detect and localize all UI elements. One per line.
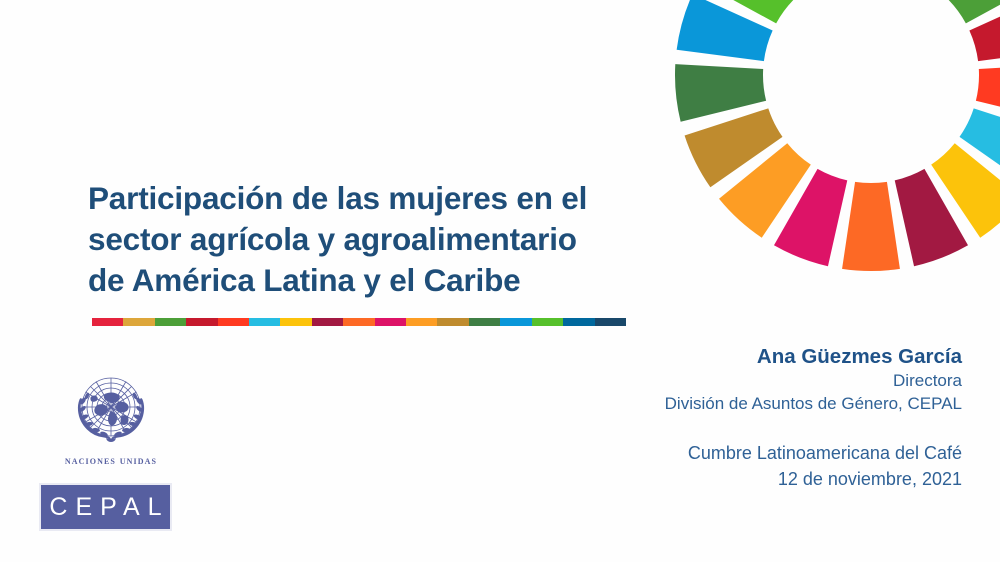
credits-block: Ana Güezmes García Directora División de… — [522, 344, 962, 492]
sdg-color-rule-segment-13 — [469, 318, 500, 326]
cepal-logo: CEPAL — [39, 483, 172, 531]
sdg-wheel-segment-8 — [895, 169, 968, 266]
presentation-slide: Participación de las mujeres en el secto… — [0, 0, 1000, 562]
page-title: Participación de las mujeres en el secto… — [88, 178, 648, 301]
sdg-color-rule-segment-7 — [280, 318, 311, 326]
sdg-wheel-segment-13 — [675, 64, 766, 122]
speaker-name: Ana Güezmes García — [522, 344, 962, 370]
sdg-wheel-segment-6 — [960, 108, 1000, 187]
speaker-division: División de Asuntos de Género, CEPAL — [522, 393, 962, 416]
sdg-wheel-logo — [671, 0, 1000, 275]
sdg-color-rule-segment-14 — [500, 318, 531, 326]
un-emblem-icon — [58, 374, 164, 450]
sdg-color-rule-segment-15 — [532, 318, 563, 326]
sdg-wheel-graphic — [671, 0, 1000, 275]
event-date: 12 de noviembre, 2021 — [522, 466, 962, 492]
sdg-color-rule-segment-1 — [92, 318, 123, 326]
sdg-color-rule-segment-2 — [123, 318, 154, 326]
sdg-color-rule-segment-6 — [249, 318, 280, 326]
sdg-wheel-segment-15 — [699, 0, 796, 23]
event-name: Cumbre Latinoamericana del Café — [522, 440, 962, 466]
sdg-wheel-segment-10 — [774, 169, 847, 266]
sdg-color-rule-segment-5 — [218, 318, 249, 326]
un-emblem-graphic — [58, 374, 164, 450]
sdg-wheel-segment-5 — [976, 64, 1000, 122]
sdg-color-rule-segment-17 — [595, 318, 626, 326]
sdg-wheel-segment-11 — [719, 143, 811, 238]
sdg-color-rule — [92, 318, 626, 326]
sdg-wheel-segment-7 — [931, 143, 1000, 238]
sdg-color-rule-segment-3 — [155, 318, 186, 326]
sdg-wheel-segment-4 — [969, 0, 1000, 61]
sdg-color-rule-segment-9 — [343, 318, 374, 326]
sdg-wheel-segment-9 — [842, 182, 900, 271]
sdg-color-rule-segment-10 — [375, 318, 406, 326]
sdg-wheel-segment-14 — [677, 0, 773, 61]
logo-block: Naciones Unidas CEPAL — [36, 374, 186, 531]
speaker-role: Directora — [522, 370, 962, 393]
event-block: Cumbre Latinoamericana del Café 12 de no… — [522, 440, 962, 492]
sdg-color-rule-segment-16 — [563, 318, 594, 326]
cepal-logo-label: CEPAL — [41, 495, 169, 520]
sdg-wheel-segment-12 — [685, 108, 783, 187]
sdg-color-rule-segment-12 — [437, 318, 468, 326]
un-wordmark-label: Naciones Unidas — [36, 455, 186, 467]
sdg-color-rule-segment-4 — [186, 318, 217, 326]
sdg-color-rule-segment-8 — [312, 318, 343, 326]
title-block: Participación de las mujeres en el secto… — [88, 178, 648, 301]
sdg-wheel-segment-3 — [947, 0, 1000, 23]
sdg-color-rule-segment-11 — [406, 318, 437, 326]
